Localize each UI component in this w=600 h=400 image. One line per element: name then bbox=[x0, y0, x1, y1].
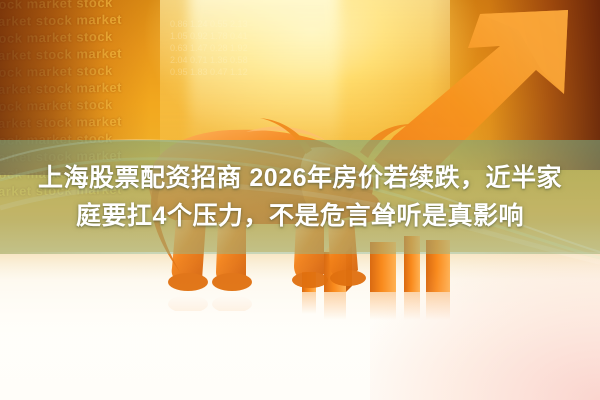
headline-line-1: 上海股票配资招商 2026年房价若续跌，近半家 bbox=[38, 162, 562, 194]
thumbnail-banner: stock market stock market stock market s… bbox=[0, 0, 600, 400]
headline-text-block: 上海股票配资招商 2026年房价若续跌，近半家 庭要扛4个压力，不是危言耸听是真… bbox=[0, 140, 600, 254]
headline-line-2: 庭要扛4个压力，不是危言耸听是真影响 bbox=[76, 200, 524, 232]
peach-tint-bottom-right bbox=[370, 250, 600, 400]
